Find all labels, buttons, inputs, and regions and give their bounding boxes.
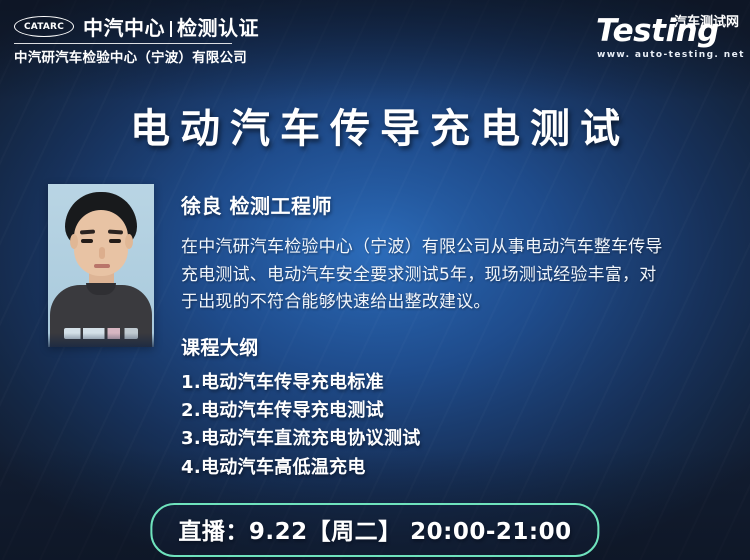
brand-rule-divider [14,43,232,44]
list-item: 2.电动汽车传导充电测试 [181,397,701,425]
photo-ear-left [70,234,78,249]
list-item: 3.电动汽车直流充电协议测试 [181,425,701,453]
outline-list: 1.电动汽车传导充电标准 2.电动汽车传导充电测试 3.电动汽车直流充电协议测试… [181,369,701,483]
photo-eye-left [81,239,93,243]
page-title: 电动汽车传导充电测试 [0,96,750,154]
brand-title-row: CATARC 中汽中心检测认证 [14,12,259,41]
brand-title: 中汽中心检测认证 [83,12,259,41]
brand-title-part1: 中汽中心 [83,16,165,40]
testing-site-name-cn: 汽车测试网 [674,11,739,30]
webinar-poster: CATARC 中汽中心检测认证 中汽研汽车检验中心（宁波）有限公司 Testin… [0,0,750,560]
list-item: 1.电动汽车传导充电标准 [181,369,701,397]
list-item: 4.电动汽车高低温充电 [181,454,701,482]
course-content: 徐良 检测工程师 在中汽研汽车检验中心（宁波）有限公司从事电动汽车整车传导充电测… [181,190,701,482]
instructor-bio: 在中汽研汽车检验中心（宁波）有限公司从事电动汽车整车传导充电测试、电动汽车安全要… [181,234,671,317]
live-schedule-badge: 直播：9.22【周二】 20:00-21:00 [150,503,599,557]
photo-ear-right [125,234,133,249]
right-brand-lockup: Testing 汽车测试网 www. auto-testing. net [594,8,742,60]
testing-url: www. auto-testing. net [597,50,745,60]
brand-title-part2: 检测认证 [177,16,259,40]
photo-mouth [94,264,110,268]
instructor-name-title: 徐良 检测工程师 [181,190,701,219]
photo-bottom-fade [48,333,154,347]
left-brand-lockup: CATARC 中汽中心检测认证 中汽研汽车检验中心（宁波）有限公司 [14,12,259,66]
brand-title-divider [170,21,172,37]
instructor-photo [48,184,154,347]
photo-nose [99,247,105,259]
brand-company-name: 中汽研汽车检验中心（宁波）有限公司 [14,46,247,66]
outline-heading: 课程大纲 [181,333,701,360]
photo-eye-right [109,239,121,243]
catarc-oval-logo-icon: CATARC [14,16,74,37]
poster-header: CATARC 中汽中心检测认证 中汽研汽车检验中心（宁波）有限公司 Testin… [0,0,750,72]
